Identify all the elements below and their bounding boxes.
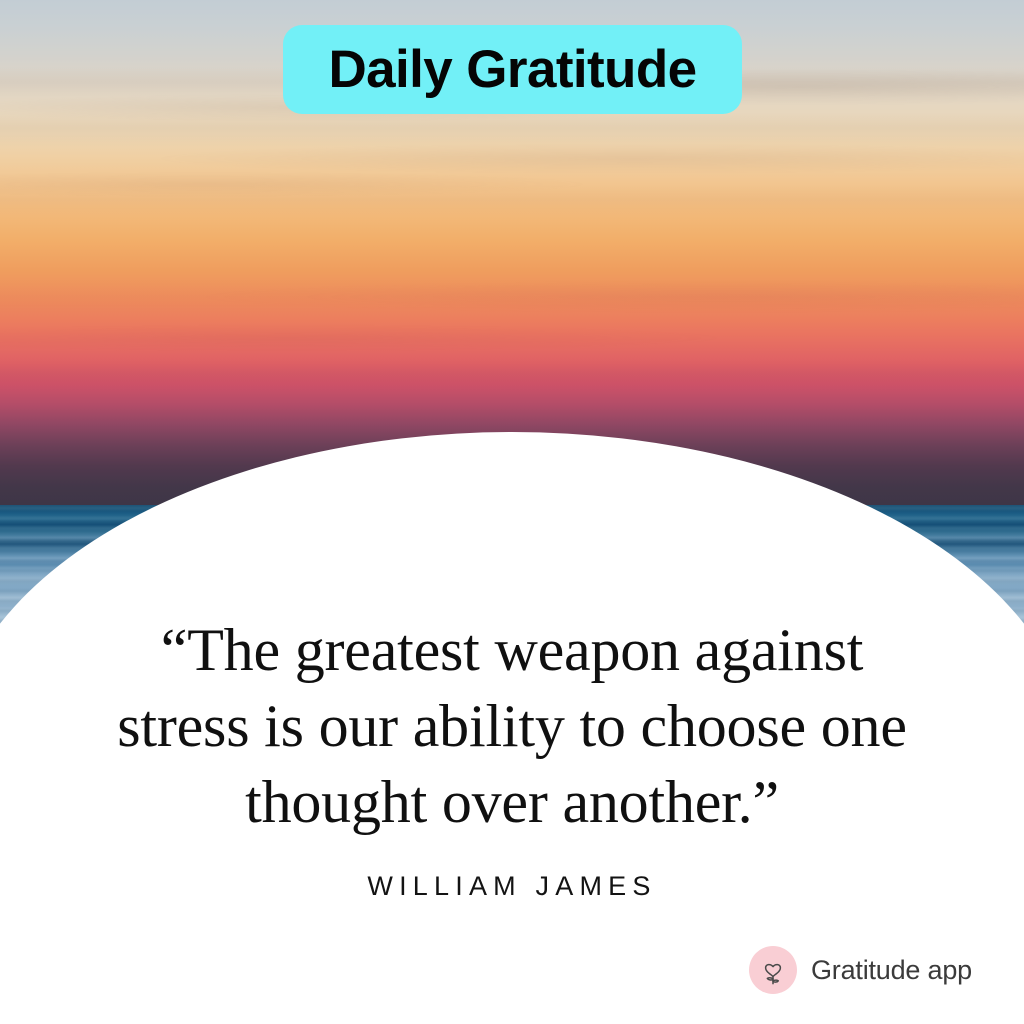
quote-block: “The greatest weapon against stress is o…: [0, 612, 1024, 840]
brand-footer[interactable]: Gratitude app: [749, 946, 972, 994]
brand-name-label: Gratitude app: [811, 955, 972, 986]
quote-text: “The greatest weapon against stress is o…: [0, 612, 1024, 840]
daily-gratitude-badge[interactable]: Daily Gratitude: [283, 25, 742, 114]
daily-gratitude-badge-label: Daily Gratitude: [329, 43, 697, 96]
gratitude-quote-card: Daily Gratitude “The greatest weapon aga…: [0, 0, 1024, 1024]
quote-author: WILLIAM JAMES: [0, 871, 1024, 902]
heart-flower-icon: [749, 946, 797, 994]
